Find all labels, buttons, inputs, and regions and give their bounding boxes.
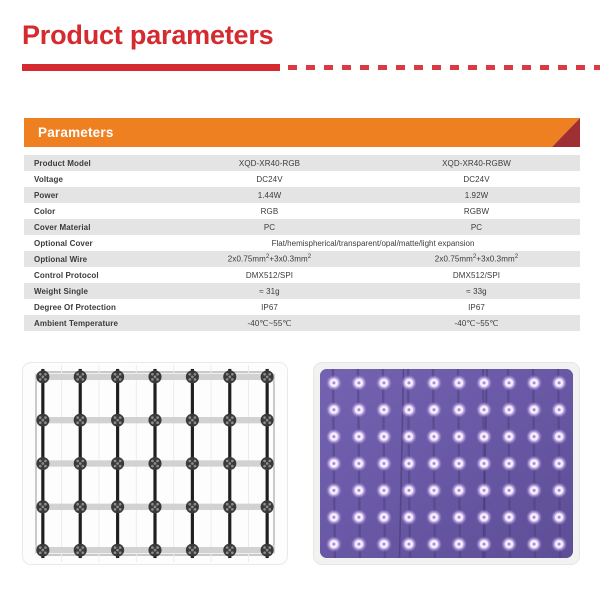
table-row: Product ModelXQD-XR40-RGBXQD-XR40-RGBW (24, 155, 580, 171)
spec-value-cell-rgb: 1.44W (166, 187, 373, 203)
parameters-section-header: Parameters (24, 118, 580, 147)
spec-label-cell: Optional Wire (24, 251, 166, 267)
table-row: Degree Of ProtectionIP67IP67 (24, 299, 580, 315)
product-photo-lit-mesh (313, 362, 580, 565)
title-rule (22, 64, 580, 71)
spec-value-cell-rgb: DMX512/SPI (166, 267, 373, 283)
spec-value-cell-rgbw: ≈ 33g (373, 283, 580, 299)
spec-value-cell-rgbw: DC24V (373, 171, 580, 187)
spec-value-cell-rgb: IP67 (166, 299, 373, 315)
spec-value-cell-rgb: PC (166, 219, 373, 235)
table-row: Ambient Temperature-40℃~55℃-40℃~55℃ (24, 315, 580, 331)
spec-value-cell-spanning: Flat/hemispherical/transparent/opal/matt… (166, 235, 580, 251)
spec-value-cell-rgbw: DMX512/SPI (373, 267, 580, 283)
spec-value-cell-rgbw: IP67 (373, 299, 580, 315)
spec-value-cell-rgbw: RGBW (373, 203, 580, 219)
spec-value-cell-rgbw: XQD-XR40-RGBW (373, 155, 580, 171)
table-row: Cover MaterialPCPC (24, 219, 580, 235)
spec-value-cell-rgb: RGB (166, 203, 373, 219)
section-header-label: Parameters (38, 118, 114, 147)
spec-label-cell: Weight Single (24, 283, 166, 299)
spec-value-cell-rgbw: 1.92W (373, 187, 580, 203)
spec-value-cell-rgb: DC24V (166, 171, 373, 187)
spec-label-cell: Ambient Temperature (24, 315, 166, 331)
product-photo-unlit-mesh (22, 362, 288, 565)
lit-mesh-panel (320, 369, 573, 558)
specifications-table: Product ModelXQD-XR40-RGBXQD-XR40-RGBWVo… (24, 155, 580, 331)
spec-value-cell-rgbw: PC (373, 219, 580, 235)
table-row: Optional Wire2x0.75mm2+3x0.3mm22x0.75mm2… (24, 251, 580, 267)
spec-label-cell: Power (24, 187, 166, 203)
led-mesh-lit-graphic (320, 369, 573, 558)
title-rule-solid (22, 64, 280, 71)
page-title: Product parameters (22, 20, 274, 51)
spec-value-cell-rgb: XQD-XR40-RGB (166, 155, 373, 171)
spec-label-cell: Degree Of Protection (24, 299, 166, 315)
table-row: Optional CoverFlat/hemispherical/transpa… (24, 235, 580, 251)
table-row: Control ProtocolDMX512/SPIDMX512/SPI (24, 267, 580, 283)
spec-label-cell: Product Model (24, 155, 166, 171)
spec-value-cell-rgbw: -40℃~55℃ (373, 315, 580, 331)
table-row: Weight Single≈ 31g≈ 33g (24, 283, 580, 299)
spec-label-cell: Color (24, 203, 166, 219)
spec-label-cell: Cover Material (24, 219, 166, 235)
spec-value-cell-rgb: 2x0.75mm2+3x0.3mm2 (166, 251, 373, 267)
specifications-table-body: Product ModelXQD-XR40-RGBXQD-XR40-RGBWVo… (24, 155, 580, 331)
title-rule-dashed (288, 65, 600, 70)
spec-label-cell: Control Protocol (24, 267, 166, 283)
led-mesh-unlit-graphic (23, 363, 287, 564)
table-row: ColorRGBRGBW (24, 203, 580, 219)
spec-label-cell: Voltage (24, 171, 166, 187)
spec-value-cell-rgbw: 2x0.75mm2+3x0.3mm2 (373, 251, 580, 267)
table-row: Power1.44W1.92W (24, 187, 580, 203)
spec-label-cell: Optional Cover (24, 235, 166, 251)
spec-value-cell-rgb: ≈ 31g (166, 283, 373, 299)
table-row: VoltageDC24VDC24V (24, 171, 580, 187)
spec-value-cell-rgb: -40℃~55℃ (166, 315, 373, 331)
